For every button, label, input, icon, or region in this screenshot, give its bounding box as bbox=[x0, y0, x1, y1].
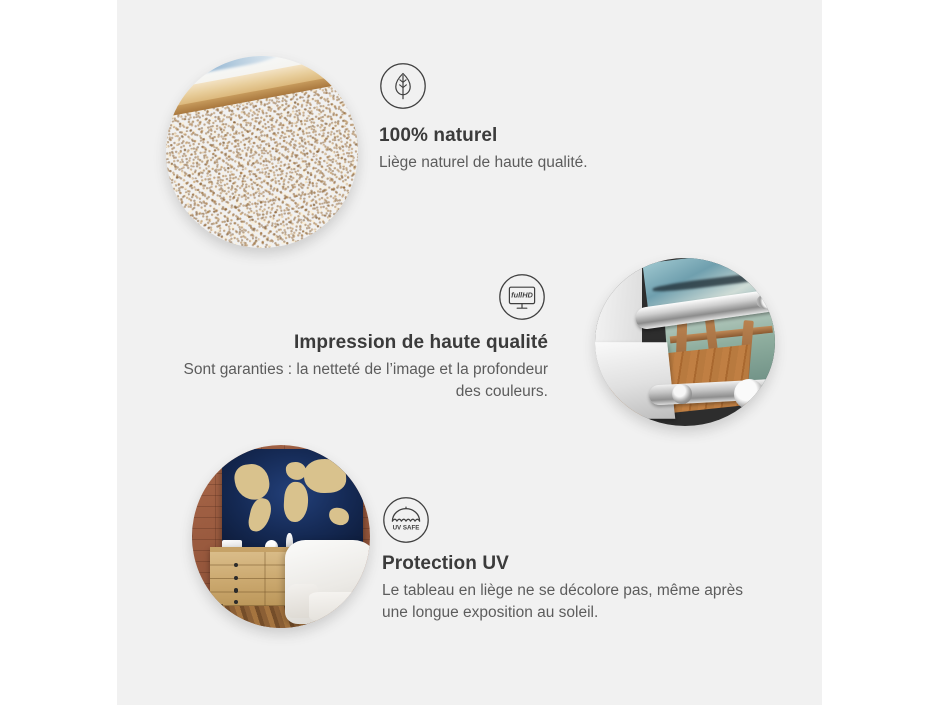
armchair-seat bbox=[309, 592, 370, 621]
printing-machine-photo bbox=[595, 258, 775, 426]
svg-text:UV SAFE: UV SAFE bbox=[393, 525, 420, 532]
natural-text-block: 100% naturel Liège naturel de haute qual… bbox=[379, 124, 739, 174]
natural-title: 100% naturel bbox=[379, 124, 739, 148]
fullhd-monitor-icon: fullHD bbox=[498, 273, 546, 321]
continent-north-america bbox=[233, 462, 271, 502]
output-tray bbox=[595, 342, 675, 419]
continent-africa bbox=[283, 482, 309, 523]
leaf-icon bbox=[379, 62, 427, 110]
continent-europe bbox=[285, 462, 306, 481]
white-armchair bbox=[285, 540, 370, 624]
print-quality-text-block: Impression de haute qualité Sont garanti… bbox=[177, 331, 548, 403]
interior-world-map-photo bbox=[192, 445, 370, 628]
content-panel: 100% naturel Liège naturel de haute qual… bbox=[117, 0, 822, 705]
natural-description: Liège naturel de haute qualité. bbox=[379, 152, 739, 174]
print-quality-description: Sont garanties : la netteté de l’image e… bbox=[177, 359, 548, 403]
uv-safe-umbrella-icon: UV SAFE bbox=[382, 496, 430, 544]
drawer-knob bbox=[234, 588, 238, 592]
continent-australia bbox=[328, 507, 349, 526]
cork-board-closeup-photo bbox=[166, 56, 358, 248]
svg-text:fullHD: fullHD bbox=[511, 290, 533, 299]
continent-south-america bbox=[247, 496, 273, 533]
room-photo-inner bbox=[192, 445, 370, 628]
continent-asia bbox=[303, 457, 347, 493]
printer-photo-inner bbox=[595, 258, 775, 426]
print-quality-title: Impression de haute qualité bbox=[177, 331, 548, 355]
uv-protection-description: Le tableau en liège ne se décolore pas, … bbox=[382, 580, 754, 624]
uv-protection-title: Protection UV bbox=[382, 552, 754, 576]
world-map-poster bbox=[222, 449, 363, 548]
roller-wheel bbox=[734, 379, 765, 409]
cork-photo-inner bbox=[166, 56, 358, 248]
uv-protection-text-block: Protection UV Le tableau en liège ne se … bbox=[382, 552, 754, 624]
